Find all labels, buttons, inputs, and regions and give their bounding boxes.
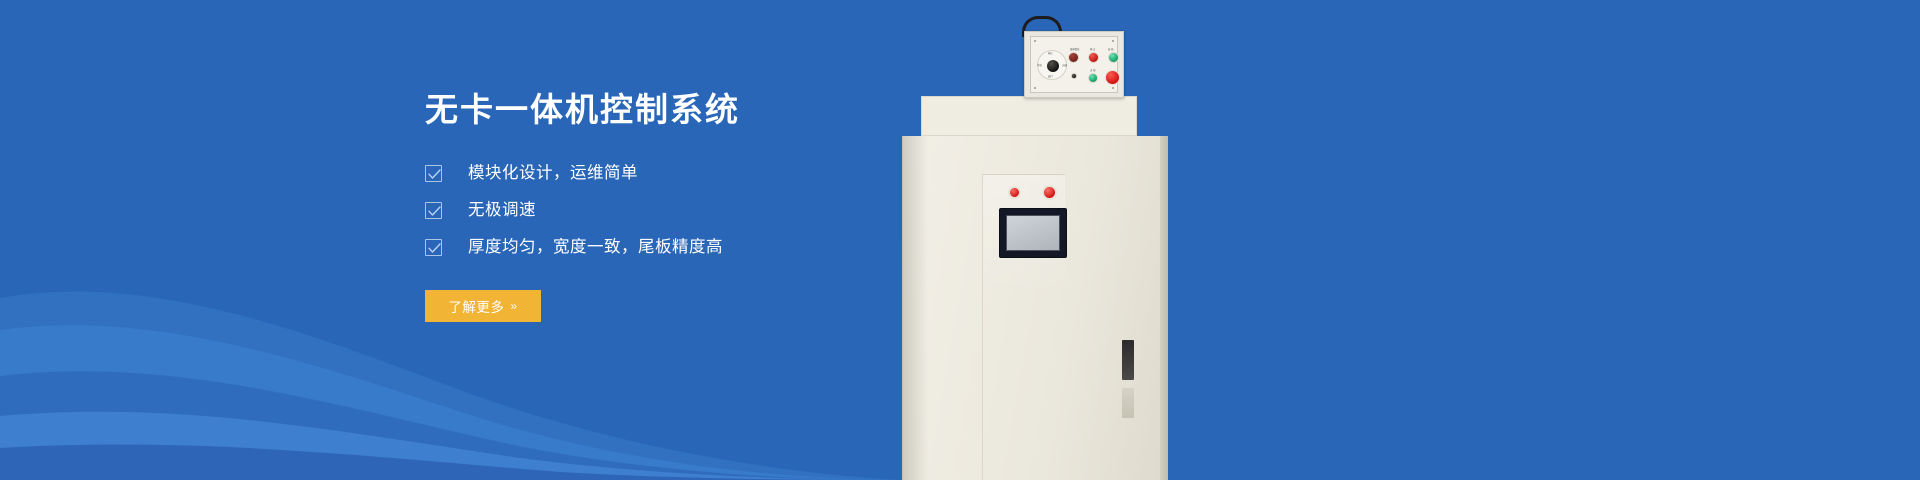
- cabinet-right-edge: [1160, 136, 1168, 480]
- control-panel-face: 停止 手动 自动 运行 急停复位 停 止 启 动 点 动: [1030, 36, 1118, 93]
- rotary-selector-plate[interactable]: 停止 手动 自动 运行: [1037, 50, 1067, 80]
- button-green-small[interactable]: [1088, 73, 1098, 83]
- checkbox-checked-icon: [425, 202, 442, 219]
- learn-more-label: 了解更多: [448, 296, 504, 316]
- rotary-selector-knob[interactable]: [1047, 60, 1059, 72]
- hero-banner: 无卡一体机控制系统 模块化设计，运维简单 无极调速: [0, 0, 1920, 480]
- panel-screw: [1034, 87, 1036, 89]
- button-label-2: 停 止: [1090, 48, 1095, 51]
- cabinet-top-cap: [921, 96, 1137, 136]
- cabinet-vent-dark: [1122, 340, 1134, 380]
- hmi-screen-surface: [1006, 215, 1060, 251]
- panel-screw: [1034, 40, 1036, 42]
- feature-label: 厚度均匀，宽度一致，尾板精度高: [468, 236, 723, 258]
- cabinet-left-shadow: [902, 136, 928, 480]
- feature-label: 无极调速: [468, 199, 536, 221]
- learn-more-button[interactable]: 了解更多 »: [425, 290, 541, 322]
- selector-label-bottom: 运行: [1048, 75, 1053, 78]
- button-label-1: 急停复位: [1070, 48, 1080, 51]
- selector-label-top: 停止: [1048, 52, 1053, 55]
- selector-label-right: 自动: [1062, 64, 1067, 67]
- panel-screw: [1112, 40, 1114, 42]
- button-label-5: 点 动: [1090, 69, 1095, 72]
- chevron-right-icon: »: [510, 299, 517, 313]
- checkbox-checked-icon: [425, 165, 442, 182]
- indicator-light-red-1: [1008, 186, 1021, 199]
- button-green[interactable]: [1108, 52, 1119, 63]
- button-black-small[interactable]: [1071, 73, 1077, 79]
- button-red[interactable]: [1088, 52, 1099, 63]
- selector-label-left: 手动: [1037, 64, 1042, 67]
- panel-screw: [1112, 87, 1114, 89]
- feature-label: 模块化设计，运维简单: [468, 162, 638, 184]
- button-label-3: 启 动: [1108, 48, 1113, 51]
- indicator-light-red-2: [1042, 185, 1057, 200]
- hmi-touchscreen[interactable]: [999, 208, 1067, 258]
- cabinet-vent-light: [1122, 388, 1134, 418]
- button-dark-red[interactable]: [1068, 52, 1079, 63]
- button-emergency-stop[interactable]: [1105, 70, 1120, 85]
- control-panel-box: 停止 手动 自动 运行 急停复位 停 止 启 动 点 动: [1024, 31, 1124, 98]
- checkbox-checked-icon: [425, 239, 442, 256]
